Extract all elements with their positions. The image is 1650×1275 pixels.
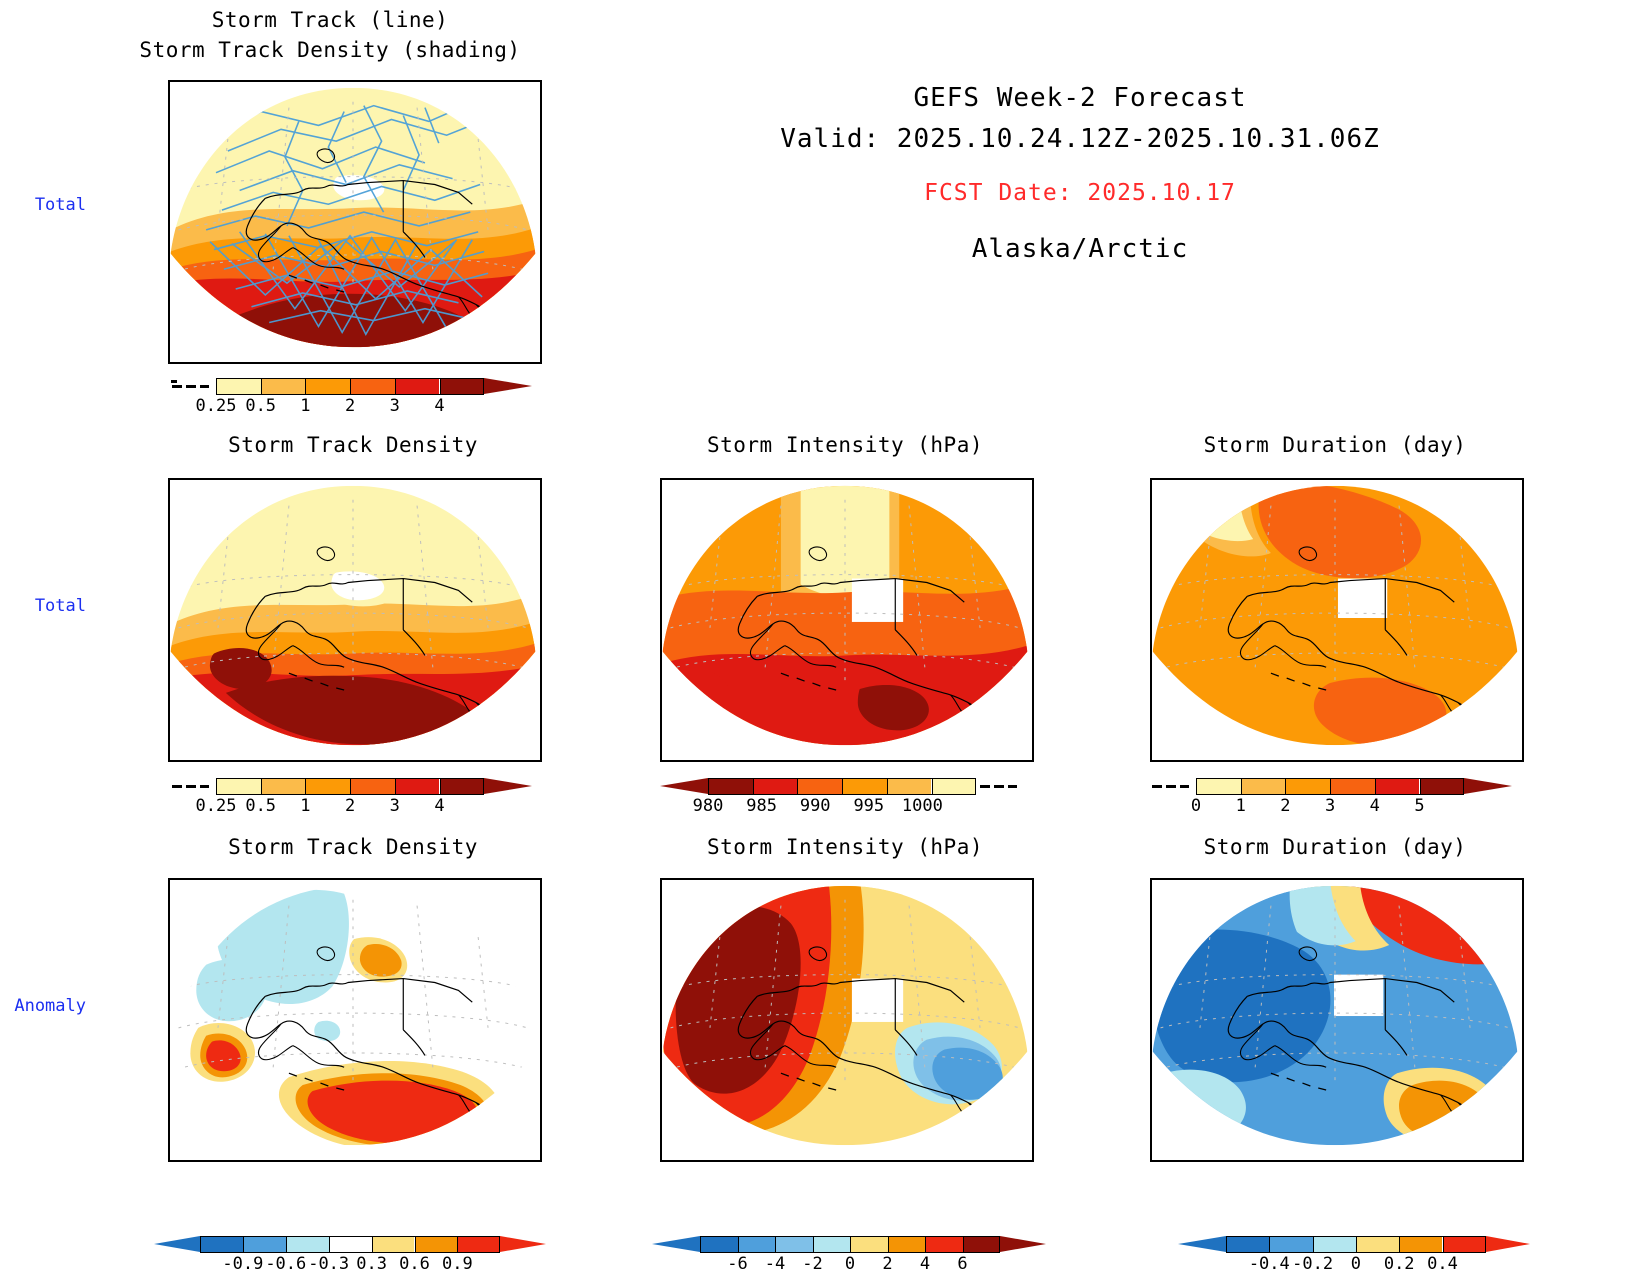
colorbar-density-1-ticks: 0.25 0.5 1 2 3 4 <box>216 395 484 417</box>
header-title-forecast: GEFS Week-2 Forecast <box>770 83 1390 113</box>
colorbar-intensity-total <box>708 778 976 795</box>
colorbar-density-anomaly <box>200 1236 500 1253</box>
header-valid-period: Valid: 2025.10.24.12Z-2025.10.31.06Z <box>730 124 1430 154</box>
panel-1-title-line1: Storm Track (line) <box>120 8 540 32</box>
panel-7-title: Storm Duration (day) <box>1150 835 1520 859</box>
panel-2-title: Storm Track Density <box>168 433 538 457</box>
panel-storm-intensity-anomaly[interactable] <box>660 878 1034 1162</box>
panel-storm-track-density-total[interactable] <box>168 478 542 762</box>
colorbar-density-2-ticks: 0.25 0.5 1 2 3 4 <box>216 795 484 817</box>
row-label-total-1: Total <box>0 195 86 215</box>
panel-5-title: Storm Track Density <box>168 835 538 859</box>
colorbar-duration-total <box>1196 778 1464 795</box>
colorbar-duration-total-ticks: 0 1 2 3 4 5 <box>1196 795 1464 817</box>
colorbar-intensity-anomaly <box>700 1236 1000 1253</box>
colorbar-density-2 <box>216 778 484 795</box>
panel-4-title: Storm Duration (day) <box>1150 433 1520 457</box>
panel-storm-track-density-anomaly[interactable] <box>168 878 542 1162</box>
header-fcst-date: FCST Date: 2025.10.17 <box>770 180 1390 206</box>
panel-6-title: Storm Intensity (hPa) <box>660 835 1030 859</box>
row-label-total-2: Total <box>0 596 86 616</box>
colorbar-density-1 <box>216 378 484 395</box>
colorbar-duration-anomaly <box>1226 1236 1486 1253</box>
colorbar-intensity-total-ticks: 980 985 990 995 1000 <box>708 795 976 817</box>
header-region: Alaska/Arctic <box>770 234 1390 264</box>
panel-1-title-line2: Storm Track Density (shading) <box>110 38 550 62</box>
colorbar-duration-anomaly-ticks: -0.4 -0.2 0 0.2 0.4 <box>1226 1253 1486 1275</box>
panel-storm-duration-total[interactable] <box>1150 478 1524 762</box>
colorbar-intensity-anomaly-ticks: -6 -4 -2 0 2 4 6 <box>700 1253 1000 1275</box>
panel-storm-intensity-total[interactable] <box>660 478 1034 762</box>
row-label-anomaly: Anomaly <box>0 996 86 1016</box>
colorbar-density-anomaly-ticks: -0.9 -0.6 -0.3 0.3 0.6 0.9 <box>200 1253 500 1275</box>
panel-storm-track-total[interactable] <box>168 80 542 364</box>
panel-3-title: Storm Intensity (hPa) <box>660 433 1030 457</box>
panel-storm-duration-anomaly[interactable] <box>1150 878 1524 1162</box>
